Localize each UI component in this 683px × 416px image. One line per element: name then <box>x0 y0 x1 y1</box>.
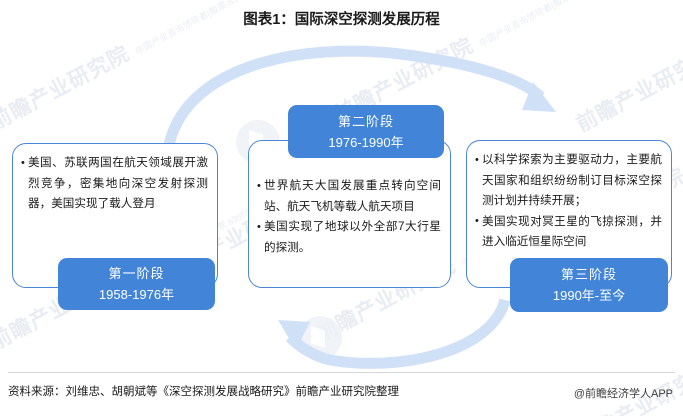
footer-divider <box>8 372 675 373</box>
stage-label-2[interactable]: 第二阶段 1976-1990年 <box>288 105 444 158</box>
bullet-list: 以科学探索为主要驱动力，主要航天国家和组织纷纷制订目标深空探测计划并持续开展； … <box>475 150 662 253</box>
stage-name: 第二阶段 <box>338 111 394 132</box>
stage-content-box-2: 世界航天大国发展重点转向空间站、航天飞机等载人航天项目 美国实现了地球以外全部7… <box>248 140 451 288</box>
stage-label-1[interactable]: 第一阶段 1958-1976年 <box>58 258 215 310</box>
stage-years: 1958-1976年 <box>99 284 174 305</box>
page-title: 图表1：国际深空探测发展历程 <box>0 8 683 29</box>
list-item: 世界航天大国发展重点转向空间站、航天飞机等载人航天项目 <box>257 176 441 217</box>
bullet-list: 美国、苏联两国在航天领域展开激烈竞争，密集地向深空发射探测器，美国实现了载人登月 <box>21 153 208 215</box>
chart-canvas: 前瞻产业研究院 中国产业咨询领导者(股票:839599) 前瞻产业研究院 中国产… <box>0 0 683 416</box>
brand-attribution: @前瞻经济学人APP <box>574 385 673 401</box>
list-item: 以科学探索为主要驱动力，主要航天国家和组织纷纷制订目标深空探测计划并持续开展； <box>475 150 662 212</box>
list-item: 美国实现了地球以外全部7大行星的探测。 <box>257 217 441 258</box>
source-note: 资料来源：刘维忠、胡朝斌等《深空探测发展战略研究》前瞻产业研究院整理 <box>8 383 399 399</box>
stage-label-3[interactable]: 第三阶段 1990年-至今 <box>510 258 668 312</box>
list-item: 美国、苏联两国在航天领域展开激烈竞争，密集地向深空发射探测器，美国实现了载人登月 <box>21 153 208 215</box>
list-item: 美国实现对冥王星的飞掠探测，并进入临近恒星际空间 <box>475 212 662 253</box>
bullet-list: 世界航天大国发展重点转向空间站、航天飞机等载人航天项目 美国实现了地球以外全部7… <box>257 176 441 258</box>
arrow-stage3-to-stage2 <box>278 300 505 363</box>
stage-years: 1976-1990年 <box>328 132 403 153</box>
stage-name: 第三阶段 <box>561 264 617 285</box>
stage-years: 1990年-至今 <box>553 285 625 306</box>
stage-name: 第一阶段 <box>108 263 164 284</box>
